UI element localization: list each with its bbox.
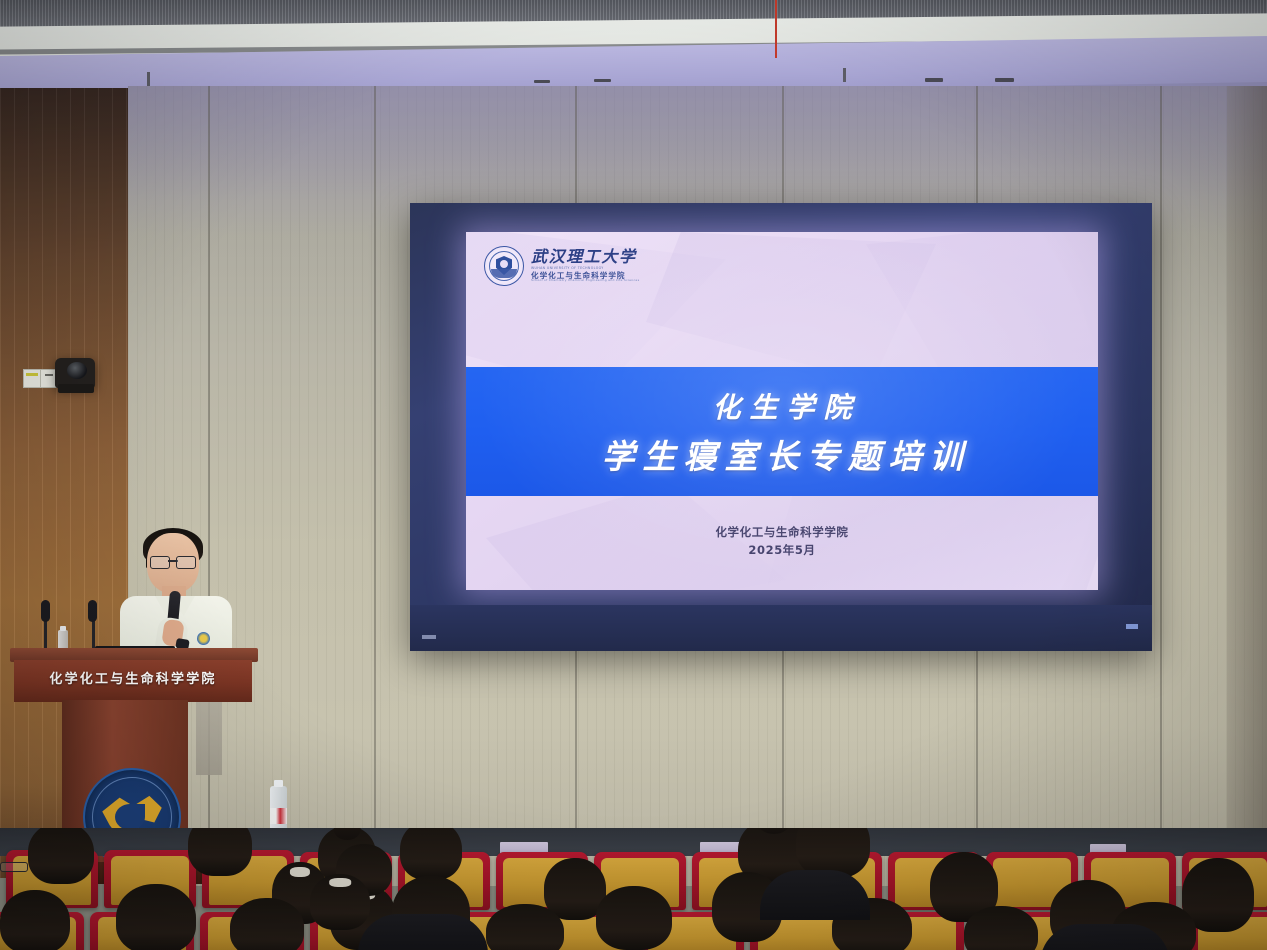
podium-school-label: 化学化工与生命科学学院: [14, 668, 252, 687]
display-indicator-right: [1126, 624, 1138, 629]
audience-head: [188, 828, 252, 876]
slide-subtitle-line2: 2025年5月: [466, 542, 1098, 560]
emblem-wing-shape: [491, 269, 517, 278]
slide-logo-text: 武汉理工大学 WUHAN UNIVERSITY OF TECHNOLOGY 化学…: [531, 249, 639, 282]
display-bottom-bezel: [410, 605, 1152, 651]
socket-left: [24, 370, 41, 387]
ceiling-hanger: [843, 68, 846, 82]
slide-subtitle: 化学化工与生命科学学院 2025年5月: [466, 524, 1098, 560]
audience-shoulders: [760, 870, 870, 920]
red-cable: [775, 0, 777, 58]
slide-logo: 武汉理工大学 WUHAN UNIVERSITY OF TECHNOLOGY 化学…: [484, 246, 639, 286]
audience-glasses-icon: [0, 862, 28, 872]
slide-subtitle-line1: 化学化工与生命科学学院: [466, 524, 1098, 542]
audience-head: [964, 906, 1038, 950]
school-emblem-icon: [484, 246, 524, 286]
slide-title-line1: 化生学院: [703, 386, 860, 426]
audience-head: [486, 904, 564, 950]
wall-seam: [1160, 86, 1162, 886]
emblem-bird-inner: [115, 804, 145, 830]
audience-head: [230, 898, 304, 950]
glasses-lens-right: [176, 556, 196, 569]
audience-head: [310, 874, 370, 930]
presentation-display[interactable]: 武汉理工大学 WUHAN UNIVERSITY OF TECHNOLOGY 化学…: [410, 203, 1152, 651]
speaker-glasses-icon: [150, 556, 196, 567]
ceiling-fixture: [995, 78, 1014, 82]
audience-head: [400, 828, 462, 880]
slide-title-line2: 学生寝室长专题培训: [594, 430, 971, 478]
wall-seam: [374, 86, 376, 886]
audience-seating-area: [0, 828, 1267, 950]
audience-head: [596, 886, 672, 950]
bottle-cap: [274, 780, 283, 787]
slide-title-band: 化生学院 学生寝室长专题培训: [466, 367, 1098, 496]
camera-mount: [58, 384, 94, 393]
audience-shoulders: [358, 914, 488, 950]
wall-right-shadow: [1227, 86, 1267, 886]
audience-head: [0, 890, 70, 950]
bottle-label: [270, 808, 287, 824]
slide-surface: 武汉理工大学 WUHAN UNIVERSITY OF TECHNOLOGY 化学…: [466, 232, 1098, 590]
audience-water-bottle: [270, 786, 287, 832]
ceiling-fixture: [594, 79, 611, 82]
audience-head: [28, 828, 94, 884]
logo-school-en: School of Chemistry Chemical Engineering…: [531, 279, 639, 282]
glasses-lens-left: [150, 556, 170, 569]
wall-socket-plate: [23, 369, 57, 388]
speaker-logo-badge: [197, 632, 210, 645]
ceiling-fixture: [534, 80, 550, 83]
socket-right: [41, 370, 57, 387]
logo-university-en: WUHAN UNIVERSITY OF TECHNOLOGY: [531, 267, 639, 270]
lecture-hall-photo: 武汉理工大学 WUHAN UNIVERSITY OF TECHNOLOGY 化学…: [0, 0, 1267, 950]
audience-head: [116, 884, 196, 950]
gooseneck-mic-head-icon: [41, 600, 50, 622]
camera-lens-icon: [67, 362, 87, 379]
gooseneck-mic-head-icon: [88, 600, 97, 622]
ceiling-hanger: [147, 72, 150, 86]
display-brand-left: [422, 635, 436, 639]
logo-university-cn: 武汉理工大学: [531, 249, 639, 266]
ceiling-fixture: [925, 78, 943, 82]
